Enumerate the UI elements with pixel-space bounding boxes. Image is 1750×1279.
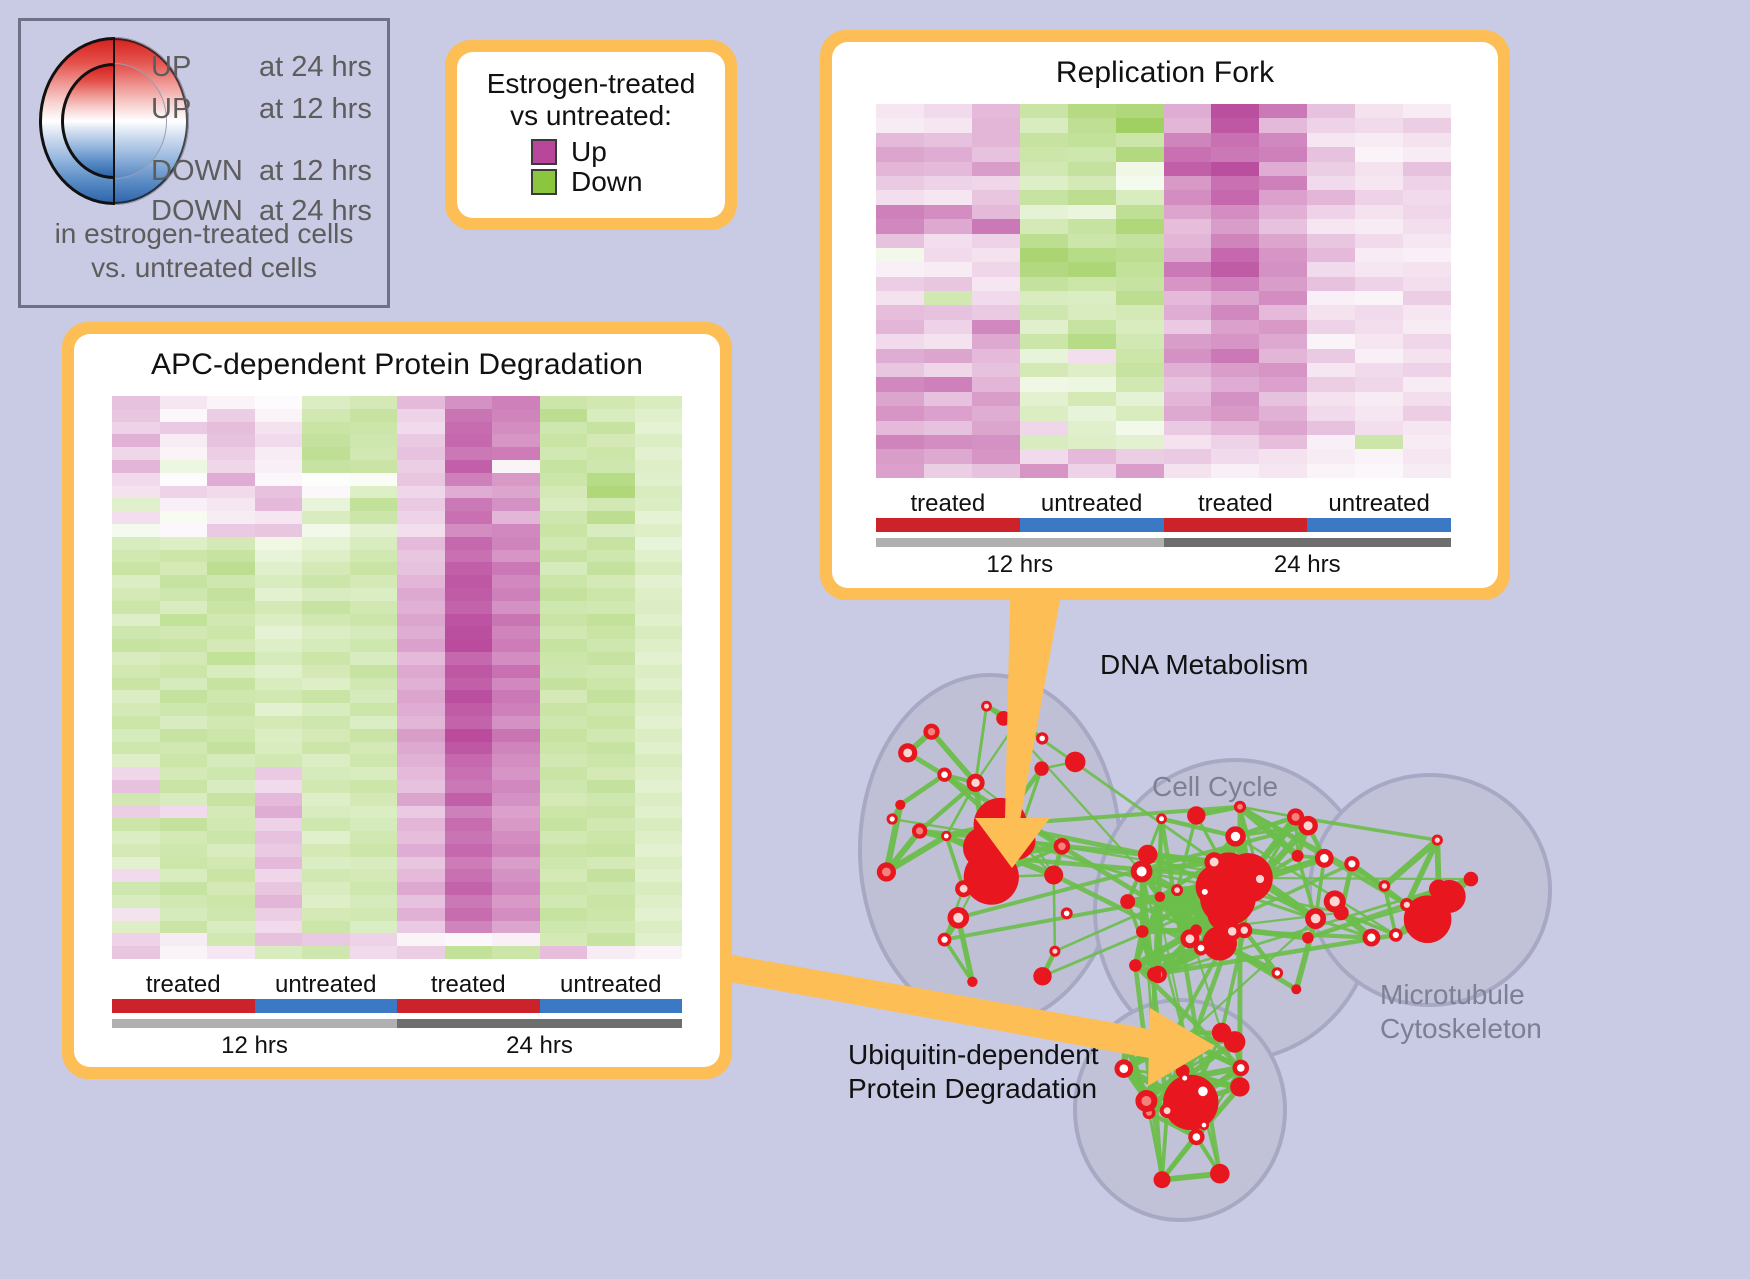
heatmap-cell <box>112 806 160 819</box>
heatmap-cell <box>540 537 588 550</box>
heatmap-cell <box>207 806 255 819</box>
heatmap-cell <box>255 460 303 473</box>
heatmap-cell <box>1307 104 1355 118</box>
heatmap-cell <box>1068 162 1116 176</box>
network-node[interactable] <box>1432 835 1443 846</box>
heatmap-cell <box>540 818 588 831</box>
heatmap-cell <box>207 818 255 831</box>
heatmap-cell <box>397 652 445 665</box>
heatmap-cell <box>1116 392 1164 406</box>
heatmap-cell <box>1211 205 1259 219</box>
heatmap-cell <box>207 524 255 537</box>
heatmap-cell <box>1068 190 1116 204</box>
network-node[interactable] <box>1379 880 1391 892</box>
heatmap-cell <box>160 703 208 716</box>
heatmap-cell <box>350 780 398 793</box>
heatmap-cell <box>1164 449 1212 463</box>
heatmap-cell <box>160 857 208 870</box>
heatmap-cell <box>160 588 208 601</box>
network-node[interactable] <box>1179 1073 1190 1084</box>
heatmap-cell <box>160 614 208 627</box>
node-inner-circle <box>890 816 895 821</box>
heatmap-cell <box>112 639 160 652</box>
heatmap-cell <box>1259 449 1307 463</box>
heatmap-cell <box>1403 277 1451 291</box>
heatmap-cell <box>207 946 255 959</box>
heatmap-cell <box>1403 162 1451 176</box>
heatmap-cell <box>1211 421 1259 435</box>
apc-heatmap[interactable] <box>112 396 682 959</box>
replication-fork-heatmap[interactable] <box>876 104 1451 478</box>
heatmap-cell <box>1164 118 1212 132</box>
microtubule-line-b: Cytoskeleton <box>1380 1012 1542 1046</box>
heatmap-cell <box>207 921 255 934</box>
heatmap-cell <box>112 767 160 780</box>
network-node[interactable] <box>1188 1129 1204 1145</box>
heatmap-cell <box>540 524 588 537</box>
heatmap-cell <box>492 716 540 729</box>
network-node[interactable] <box>1155 892 1165 902</box>
heatmap-cell <box>445 703 493 716</box>
heatmap-cell <box>924 219 972 233</box>
heatmap-cell <box>587 857 635 870</box>
panel-title: APC-dependent Protein Degradation <box>74 334 720 382</box>
heatmap-cell <box>1307 219 1355 233</box>
network-node[interactable] <box>1065 752 1086 773</box>
network-node[interactable] <box>1272 967 1284 979</box>
heatmap-cell <box>397 639 445 652</box>
network-node[interactable] <box>1363 929 1381 947</box>
heatmap-cell <box>445 652 493 665</box>
heatmap-cell <box>876 464 924 478</box>
time-labels: 12 hrs 24 hrs <box>112 1032 682 1060</box>
network-node[interactable] <box>1044 866 1063 885</box>
heatmap-cell <box>255 626 303 639</box>
network-node[interactable] <box>1298 816 1318 836</box>
heatmap-cell <box>112 447 160 460</box>
heatmap-cell <box>1164 291 1212 305</box>
heatmap-cell <box>492 767 540 780</box>
heatmap-cell <box>540 434 588 447</box>
heatmap-cell <box>1068 392 1116 406</box>
network-edge <box>1054 875 1055 951</box>
network-node[interactable] <box>1160 1103 1175 1118</box>
heatmap-cell <box>112 882 160 895</box>
heatmap-cell <box>112 869 160 882</box>
heatmap-cell <box>1068 334 1116 348</box>
heatmap-cell <box>1116 305 1164 319</box>
heatmap-cell <box>255 575 303 588</box>
network-node[interactable] <box>967 977 977 987</box>
network-node[interactable] <box>877 862 896 881</box>
condition-label: untreated <box>255 971 398 999</box>
node-outer-circle <box>1120 894 1135 909</box>
network-node[interactable] <box>1233 1060 1250 1077</box>
network-node[interactable] <box>1204 852 1223 871</box>
heatmap-cell <box>397 422 445 435</box>
network-node[interactable] <box>1033 967 1051 985</box>
heatmap-cell <box>635 703 683 716</box>
time-bar-12hrs <box>112 1019 397 1028</box>
heatmap-cell <box>1020 305 1068 319</box>
heatmap-cell <box>587 601 635 614</box>
heatmap-cell <box>1403 219 1451 233</box>
heatmap-cell <box>255 434 303 447</box>
heatmap-cell <box>972 262 1020 276</box>
replication-fork-heatmap-wrap: treated untreated treated untreated 12 h… <box>876 104 1451 579</box>
network-node[interactable] <box>1251 870 1269 888</box>
heatmap-cell <box>397 575 445 588</box>
network-node[interactable] <box>1135 1090 1157 1112</box>
heatmap-cell <box>160 742 208 755</box>
network-node[interactable] <box>1156 813 1167 824</box>
heatmap-cell <box>587 908 635 921</box>
heatmap-cell <box>876 421 924 435</box>
heatmap-cell <box>1355 219 1403 233</box>
heatmap-cell <box>1164 104 1212 118</box>
network-node[interactable] <box>1138 845 1158 865</box>
heatmap-cell <box>635 550 683 563</box>
heatmap-cell <box>1164 262 1212 276</box>
heatmap-cell <box>972 190 1020 204</box>
heatmap-cell <box>1259 190 1307 204</box>
heatmap-cell <box>587 498 635 511</box>
node-inner-circle <box>944 834 949 839</box>
heatmap-cell <box>255 665 303 678</box>
heatmap-cell <box>1211 248 1259 262</box>
network-node[interactable] <box>1147 967 1161 981</box>
heatmap-cell <box>972 133 1020 147</box>
heatmap-cell <box>445 882 493 895</box>
heatmap-cell <box>445 921 493 934</box>
heatmap-cell <box>635 626 683 639</box>
heatmap-cell <box>160 460 208 473</box>
heatmap-cell <box>160 793 208 806</box>
heatmap-cell <box>1068 349 1116 363</box>
heatmap-cell <box>492 614 540 627</box>
network-node[interactable] <box>1171 884 1183 896</box>
heatmap-cell <box>350 742 398 755</box>
heatmap-cell <box>160 780 208 793</box>
heatmap-cell <box>445 588 493 601</box>
condition-label: treated <box>112 971 255 999</box>
heatmap-cell <box>302 537 350 550</box>
node-inner-circle <box>1241 927 1248 934</box>
heatmap-cell <box>972 377 1020 391</box>
ubiquitin-line-a: Ubiquitin-dependent <box>848 1038 1099 1072</box>
heatmap-cell <box>160 511 208 524</box>
network-node[interactable] <box>887 813 898 824</box>
node-inner-circle <box>1382 883 1387 888</box>
heatmap-cell <box>255 562 303 575</box>
legend-heading-line-2: vs untreated: <box>457 100 725 132</box>
heatmap-cell <box>492 678 540 691</box>
heatmap-cell <box>587 575 635 588</box>
time-label: 12 hrs <box>876 551 1164 579</box>
heatmap-cell <box>1211 334 1259 348</box>
heatmap-cell <box>924 435 972 449</box>
heatmap-cell <box>1116 363 1164 377</box>
network-node[interactable] <box>955 880 972 897</box>
node-outer-circle <box>1120 1035 1133 1048</box>
heatmap-cell <box>876 162 924 176</box>
heatmap-cell <box>587 933 635 946</box>
heatmap-cell <box>302 767 350 780</box>
heatmap-cell <box>972 363 1020 377</box>
heatmap-cell <box>445 486 493 499</box>
heatmap-cell <box>160 933 208 946</box>
network-node[interactable] <box>1120 1035 1133 1048</box>
time-color-bar <box>876 538 1451 547</box>
network-node[interactable] <box>1292 850 1304 862</box>
heatmap-cell <box>1164 334 1212 348</box>
heatmap-cell <box>492 498 540 511</box>
network-node[interactable] <box>912 823 927 838</box>
network-node[interactable] <box>1061 907 1073 919</box>
heatmap-cell <box>445 614 493 627</box>
network-node[interactable] <box>938 933 952 947</box>
heatmap-cell <box>255 639 303 652</box>
network-node[interactable] <box>1198 885 1211 898</box>
heatmap-cell <box>255 729 303 742</box>
node-outer-circle <box>1224 1031 1246 1053</box>
heatmap-cell <box>635 818 683 831</box>
heatmap-cell <box>1116 291 1164 305</box>
heatmap-cell <box>160 806 208 819</box>
network-node[interactable] <box>941 831 951 841</box>
network-node[interactable] <box>937 768 951 782</box>
heatmap-cell <box>1068 449 1116 463</box>
heatmap-cell <box>1307 262 1355 276</box>
network-node[interactable] <box>1344 856 1359 871</box>
heatmap-cell <box>492 486 540 499</box>
network-node[interactable] <box>1163 1075 1218 1130</box>
down-color-swatch <box>531 169 557 195</box>
network-node[interactable] <box>1315 849 1334 868</box>
network-node[interactable] <box>1168 1028 1179 1039</box>
heatmap-cell <box>1116 104 1164 118</box>
condition-color-bar <box>112 999 682 1013</box>
heatmap-cell <box>924 349 972 363</box>
network-node[interactable] <box>1034 761 1048 775</box>
heatmap-cell <box>876 104 924 118</box>
network-node[interactable] <box>1010 808 1021 819</box>
heatmap-cell <box>445 946 493 959</box>
node-inner-circle <box>1256 875 1264 883</box>
heatmap-cell <box>255 921 303 934</box>
heatmap-cell <box>350 422 398 435</box>
heatmap-cell <box>540 703 588 716</box>
heatmap-cell <box>587 665 635 678</box>
heatmap-cell <box>1403 349 1451 363</box>
heatmap-cell <box>587 716 635 729</box>
heatmap-cell <box>302 690 350 703</box>
node-outer-circle <box>967 977 977 987</box>
node-inner-circle <box>1435 838 1440 843</box>
heatmap-cell <box>540 575 588 588</box>
network-node[interactable] <box>1291 984 1301 994</box>
node-outer-circle <box>998 822 1036 860</box>
node-outer-circle <box>895 800 905 810</box>
heatmap-cell <box>255 857 303 870</box>
heatmap-cell <box>540 933 588 946</box>
node-inner-circle <box>971 779 979 787</box>
network-node[interactable] <box>1429 880 1448 899</box>
heatmap-cell <box>540 844 588 857</box>
heatmap-cell <box>445 908 493 921</box>
heatmap-cell <box>587 882 635 895</box>
heatmap-cell <box>1020 234 1068 248</box>
heatmap-cell <box>1020 219 1068 233</box>
network-node[interactable] <box>1210 1164 1230 1184</box>
heatmap-cell <box>1116 377 1164 391</box>
network-node[interactable] <box>1120 894 1135 909</box>
heatmap-cell <box>1116 133 1164 147</box>
node-inner-circle <box>1198 945 1205 952</box>
heatmap-cell <box>492 434 540 447</box>
heatmap-cell <box>1068 291 1116 305</box>
heatmap-cell <box>160 575 208 588</box>
heatmap-cell <box>445 742 493 755</box>
ubiquitin-line-b: Protein Degradation <box>848 1072 1099 1106</box>
heatmap-cell <box>1211 349 1259 363</box>
network-node[interactable] <box>1236 922 1252 938</box>
node-outer-circle <box>1155 892 1165 902</box>
heatmap-cell <box>302 614 350 627</box>
network-node[interactable] <box>1049 946 1060 957</box>
network-node[interactable] <box>1136 925 1149 938</box>
heatmap-cell <box>587 844 635 857</box>
heatmap-cell <box>635 639 683 652</box>
heatmap-cell <box>492 729 540 742</box>
network-node[interactable] <box>1192 1081 1213 1102</box>
network-node[interactable] <box>998 822 1036 860</box>
heatmap-cell <box>445 818 493 831</box>
heatmap-cell <box>350 409 398 422</box>
node-inner-circle <box>1304 821 1313 830</box>
network-node[interactable] <box>1389 928 1403 942</box>
network-node[interactable] <box>1154 1171 1171 1188</box>
heatmap-cell <box>1068 219 1116 233</box>
heatmap-cell <box>255 588 303 601</box>
heatmap-cell <box>255 486 303 499</box>
network-node[interactable] <box>1302 932 1314 944</box>
heatmap-cell <box>1211 190 1259 204</box>
network-node[interactable] <box>1115 1059 1134 1078</box>
heatmap-cell <box>540 857 588 870</box>
pathway-network-diagram[interactable]: DNA Metabolism Cell Cycle Microtubule Cy… <box>780 600 1750 1279</box>
condition-labels: treated untreated treated untreated <box>112 971 682 999</box>
heatmap-cell <box>540 729 588 742</box>
network-node[interactable] <box>1464 872 1479 887</box>
heatmap-cell <box>350 857 398 870</box>
network-node[interactable] <box>1230 1077 1249 1096</box>
heatmap-cell <box>492 703 540 716</box>
heatmap-cell <box>350 486 398 499</box>
heatmap-cell <box>302 434 350 447</box>
node-outer-circle <box>996 711 1011 726</box>
heatmap-cell <box>1307 291 1355 305</box>
heatmap-cell <box>1164 406 1212 420</box>
heatmap-cell <box>492 933 540 946</box>
heatmap-cell <box>112 409 160 422</box>
network-node[interactable] <box>1224 1031 1246 1053</box>
heatmap-cell <box>207 422 255 435</box>
heatmap-cell <box>1355 248 1403 262</box>
network-node[interactable] <box>1158 1037 1173 1052</box>
heatmap-cell <box>1259 162 1307 176</box>
network-node[interactable] <box>1129 959 1142 972</box>
heatmap-cell <box>397 806 445 819</box>
heatmap-cell <box>112 588 160 601</box>
heatmap-cell <box>540 690 588 703</box>
network-node[interactable] <box>948 907 970 929</box>
heatmap-cell <box>302 486 350 499</box>
network-node[interactable] <box>895 800 905 810</box>
heatmap-cell <box>1211 377 1259 391</box>
heatmap-cell <box>876 363 924 377</box>
heatmap-cell <box>207 831 255 844</box>
network-node[interactable] <box>967 774 985 792</box>
heatmap-cell <box>1259 104 1307 118</box>
replication-fork-inner: Replication Fork treated untreated treat… <box>832 42 1498 588</box>
network-node[interactable] <box>1180 929 1199 948</box>
network-node[interactable] <box>1305 908 1326 929</box>
network-node[interactable] <box>898 743 917 762</box>
network-node[interactable] <box>996 711 1011 726</box>
heatmap-cell <box>1116 147 1164 161</box>
heatmap-cell <box>397 409 445 422</box>
heatmap-cell <box>397 703 445 716</box>
node-outer-circle <box>1291 984 1301 994</box>
network-node[interactable] <box>1199 1120 1209 1130</box>
network-node[interactable] <box>1036 732 1048 744</box>
heatmap-cell <box>876 133 924 147</box>
heatmap-cell <box>587 946 635 959</box>
node-outer-circle <box>1210 1164 1230 1184</box>
heatmap-cell <box>1116 248 1164 262</box>
network-node[interactable] <box>981 701 992 712</box>
network-node[interactable] <box>1054 838 1071 855</box>
heatmap-cell <box>1307 305 1355 319</box>
node-inner-circle <box>1202 889 1208 895</box>
network-node[interactable] <box>923 724 939 740</box>
heatmap-cell <box>1403 464 1451 478</box>
heatmap-cell <box>1211 133 1259 147</box>
network-node[interactable] <box>1225 826 1245 846</box>
heatmap-cell <box>1020 464 1068 478</box>
network-node[interactable] <box>1187 806 1205 824</box>
heatmap-cell <box>924 277 972 291</box>
heatmap-cell <box>1403 320 1451 334</box>
heatmap-cell <box>492 921 540 934</box>
heatmap-cell <box>540 601 588 614</box>
heatmap-cell <box>1020 248 1068 262</box>
heatmap-cell <box>350 729 398 742</box>
heatmap-cell <box>1355 147 1403 161</box>
heatmap-cell <box>972 449 1020 463</box>
network-node[interactable] <box>1324 890 1346 912</box>
heatmap-cell <box>540 806 588 819</box>
node-inner-circle <box>1186 934 1195 943</box>
heatmap-cell <box>160 486 208 499</box>
heatmap-cell <box>1211 219 1259 233</box>
heatmap-cell <box>1164 320 1212 334</box>
heatmap-cell <box>1020 205 1068 219</box>
heatmap-cell <box>302 626 350 639</box>
heatmap-cell <box>924 176 972 190</box>
network-node[interactable] <box>1400 898 1413 911</box>
